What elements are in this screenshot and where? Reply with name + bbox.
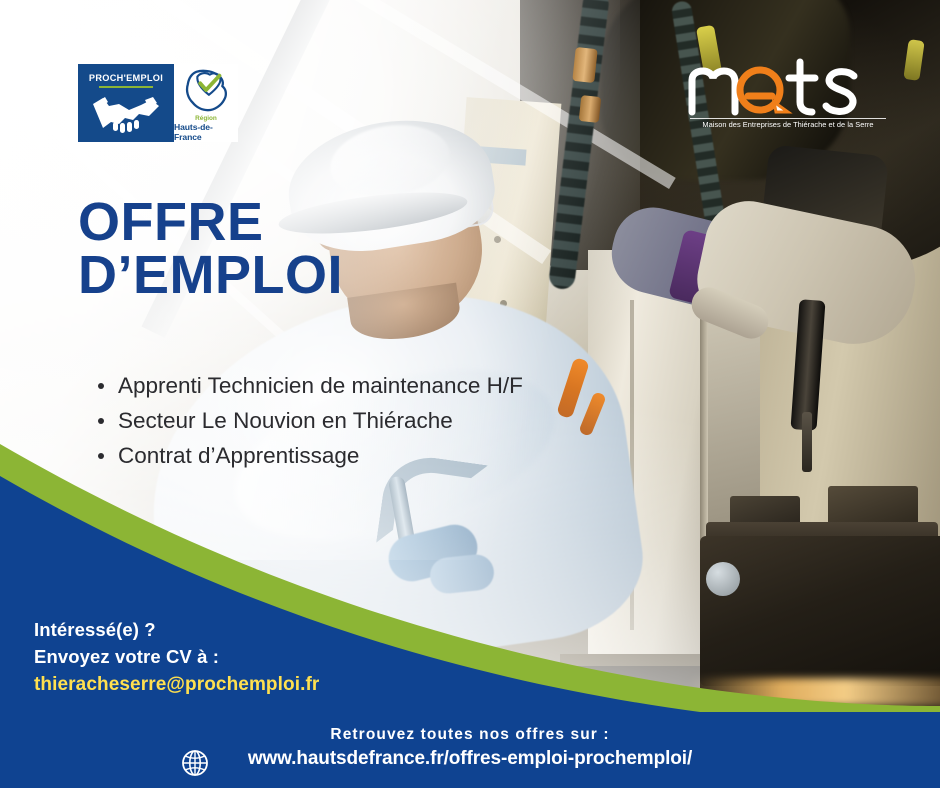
page-title: OFFRE D’EMPLOI xyxy=(78,196,498,302)
handshake-icon xyxy=(89,92,163,136)
france-map-check-icon xyxy=(178,68,234,114)
mets-divider xyxy=(690,118,886,119)
title-line-1: OFFRE xyxy=(78,192,264,252)
contact-email[interactable]: thieracheserre@prochemploi.fr xyxy=(34,670,319,699)
contact-instruction: Envoyez votre CV à : xyxy=(34,643,319,670)
list-item: Contrat d’Apprentissage xyxy=(92,438,712,473)
proch-emploi-underline xyxy=(99,86,153,88)
region-hauts-de-france-logo: Région Hauts-de-France xyxy=(174,64,238,142)
contact-question: Intéressé(e) ? xyxy=(34,616,319,643)
mets-tagline: Maison des Entreprises de Thiérache et d… xyxy=(688,120,888,129)
contact-block: Intéressé(e) ? Envoyez votre CV à : thie… xyxy=(34,616,319,699)
footer-url[interactable]: www.hautsdefrance.fr/offres-emploi-proch… xyxy=(0,748,940,770)
list-item: Secteur Le Nouvion en Thiérache xyxy=(92,403,712,438)
title-line-2: D’EMPLOI xyxy=(78,249,498,302)
region-name: Hauts-de-France xyxy=(174,122,238,142)
mets-wordmark-icon xyxy=(688,58,888,118)
offer-details-list: Apprenti Technicien de maintenance H/F S… xyxy=(92,368,712,473)
proch-emploi-logo: PROCH'EMPLOI Région Hauts-de-France xyxy=(78,64,238,142)
proch-emploi-wordmark: PROCH'EMPLOI xyxy=(89,73,163,83)
region-label: Région xyxy=(195,115,217,122)
list-item: Apprenti Technicien de maintenance H/F xyxy=(92,368,712,403)
proch-emploi-left-panel: PROCH'EMPLOI xyxy=(78,64,174,142)
mets-logo: Maison des Entreprises de Thiérache et d… xyxy=(688,58,888,140)
footer-lead-text: Retrouvez toutes nos offres sur : xyxy=(0,726,940,744)
job-offer-poster: PROCH'EMPLOI Région Hauts-de-France xyxy=(0,0,940,788)
footer-block: Retrouvez toutes nos offres sur : www.ha… xyxy=(0,726,940,770)
